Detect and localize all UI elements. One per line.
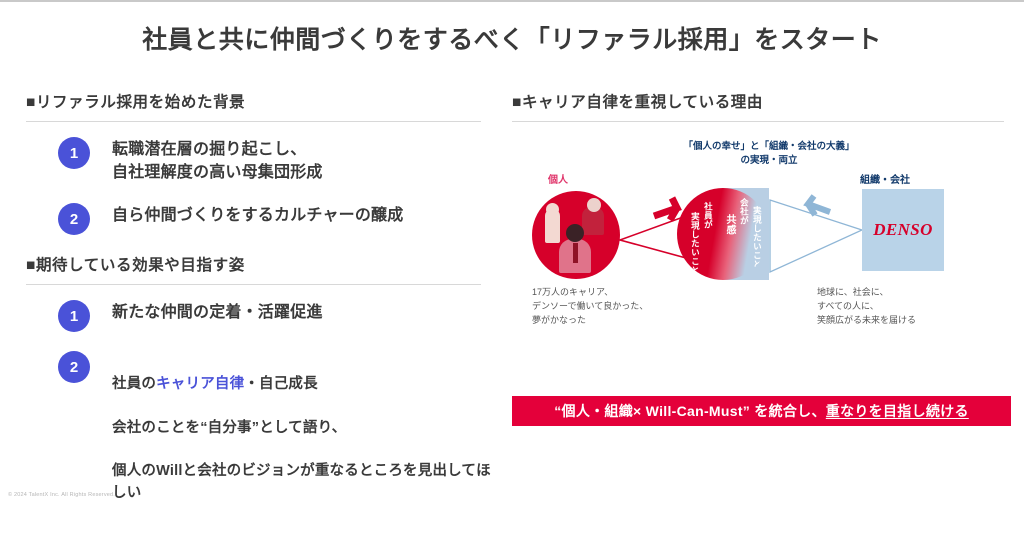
diagram-caption: 「個人の幸せ」と「組織・会社の大義」 の実現・両立 <box>624 140 914 168</box>
diagram-label-individual: 個人 <box>548 171 568 186</box>
section-divider <box>26 121 481 122</box>
item-number-badge: 2 <box>58 203 90 235</box>
overlap-circle: 実現したいこと 社員が 共感 会社が 実現したいこと <box>677 188 769 280</box>
list-item-line-3: 個人のWillと会社のビジョンが重なるところを見出してほしい <box>112 461 491 505</box>
person-head-shape <box>566 224 584 242</box>
list-item-label: 社員のキャリア自律・自己成長 会社のことを“自分事”として語り、 個人のWill… <box>112 350 491 526</box>
line1-accent-career-autonomy: キャリア自律 <box>156 376 244 392</box>
center-text-employee-prefix: 実現したいこと <box>690 212 699 275</box>
banner-text-underlined: 重なりを目指し続ける <box>826 401 969 421</box>
item-number-badge: 2 <box>58 351 90 383</box>
list-item-line-2: 会社のことを“自分事”として語り、 <box>112 418 491 440</box>
line1-pre: 社員の <box>112 376 156 392</box>
list-item: 2 社員のキャリア自律・自己成長 会社のことを“自分事”として語り、 個人のWi… <box>26 350 491 526</box>
center-text-empathy: 共感 <box>724 214 735 235</box>
background-item-list: 1 転職潜在層の掘り起こし、 自社理解度の高い母集団形成 2 自ら仲間づくりをす… <box>26 136 491 235</box>
slide-root: 社員と共に仲間づくりをするべく「リファラル採用」をスタート ■リファラル採用を始… <box>0 0 1024 504</box>
center-text-company: 会社が <box>739 198 748 225</box>
line1-post: ・自己成長 <box>244 376 318 392</box>
center-text-employee: 社員が <box>703 202 712 229</box>
list-item: 1 転職潜在層の掘り起こし、 自社理解度の高い母集団形成 <box>26 136 491 184</box>
summary-banner: “個人・組織× Will-Can-Must” を統合し、重なりを目指し続ける <box>512 396 1011 426</box>
section-expected-effects: ■期待している効果や目指す姿 1 新たな仲間の定着・活躍促進 2 社員のキャリア… <box>26 253 491 526</box>
diagram-caption-company: 地球に、社会に、 すべての人に、 笑顔広がる未来を届ける <box>817 286 977 328</box>
people-illustration-icon <box>532 191 620 279</box>
person-head-shape <box>546 203 559 216</box>
denso-logo: DENSO <box>873 220 933 240</box>
list-item: 1 新たな仲間の定着・活躍促進 <box>26 299 491 332</box>
left-column: ■リファラル採用を始めた背景 1 転職潜在層の掘り起こし、 自社理解度の高い母集… <box>26 90 491 544</box>
diagram-label-organization: 組織・会社 <box>860 171 910 186</box>
person-tie-shape <box>573 243 578 263</box>
item-number-badge: 1 <box>58 300 90 332</box>
person-head-shape <box>587 198 601 212</box>
diagram-caption-individual: 17万人のキャリア、 デンソーで働いて良かった、 夢がかなった <box>532 286 682 328</box>
company-logo-box: DENSO <box>862 189 944 271</box>
section-heading-effects: ■期待している効果や目指す姿 <box>26 253 491 275</box>
list-item-label: 自ら仲間づくりをするカルチャーの醸成 <box>112 202 403 227</box>
right-column: ■キャリア自律を重視している理由 「個人の幸せ」と「組織・会社の大義」 の実現・… <box>512 90 1012 366</box>
footer-copyright: © 2024 TalentX Inc. All Rights Reserved. <box>8 492 115 498</box>
item-number-badge: 1 <box>58 137 90 169</box>
list-item: 2 自ら仲間づくりをするカルチャーの醸成 <box>26 202 491 235</box>
career-autonomy-diagram: 「個人の幸せ」と「組織・会社の大義」 の実現・両立 個人 組織・会社 実現したい… <box>512 136 1012 366</box>
section-divider <box>512 121 1004 122</box>
section-heading-career-autonomy: ■キャリア自律を重視している理由 <box>512 90 1012 112</box>
list-item-label: 新たな仲間の定着・活躍促進 <box>112 299 323 324</box>
list-item-line-1: 社員のキャリア自律・自己成長 <box>112 374 491 396</box>
center-text-company-suffix: 実現したいこと <box>752 206 761 269</box>
section-divider <box>26 284 481 285</box>
list-item-label: 転職潜在層の掘り起こし、 自社理解度の高い母集団形成 <box>112 136 323 184</box>
banner-text-pre: “個人・組織× Will-Can-Must” を統合し、 <box>554 401 826 421</box>
section-heading-background: ■リファラル採用を始めた背景 <box>26 90 491 112</box>
page-title: 社員と共に仲間づくりをするべく「リファラル採用」をスタート <box>0 20 1024 56</box>
